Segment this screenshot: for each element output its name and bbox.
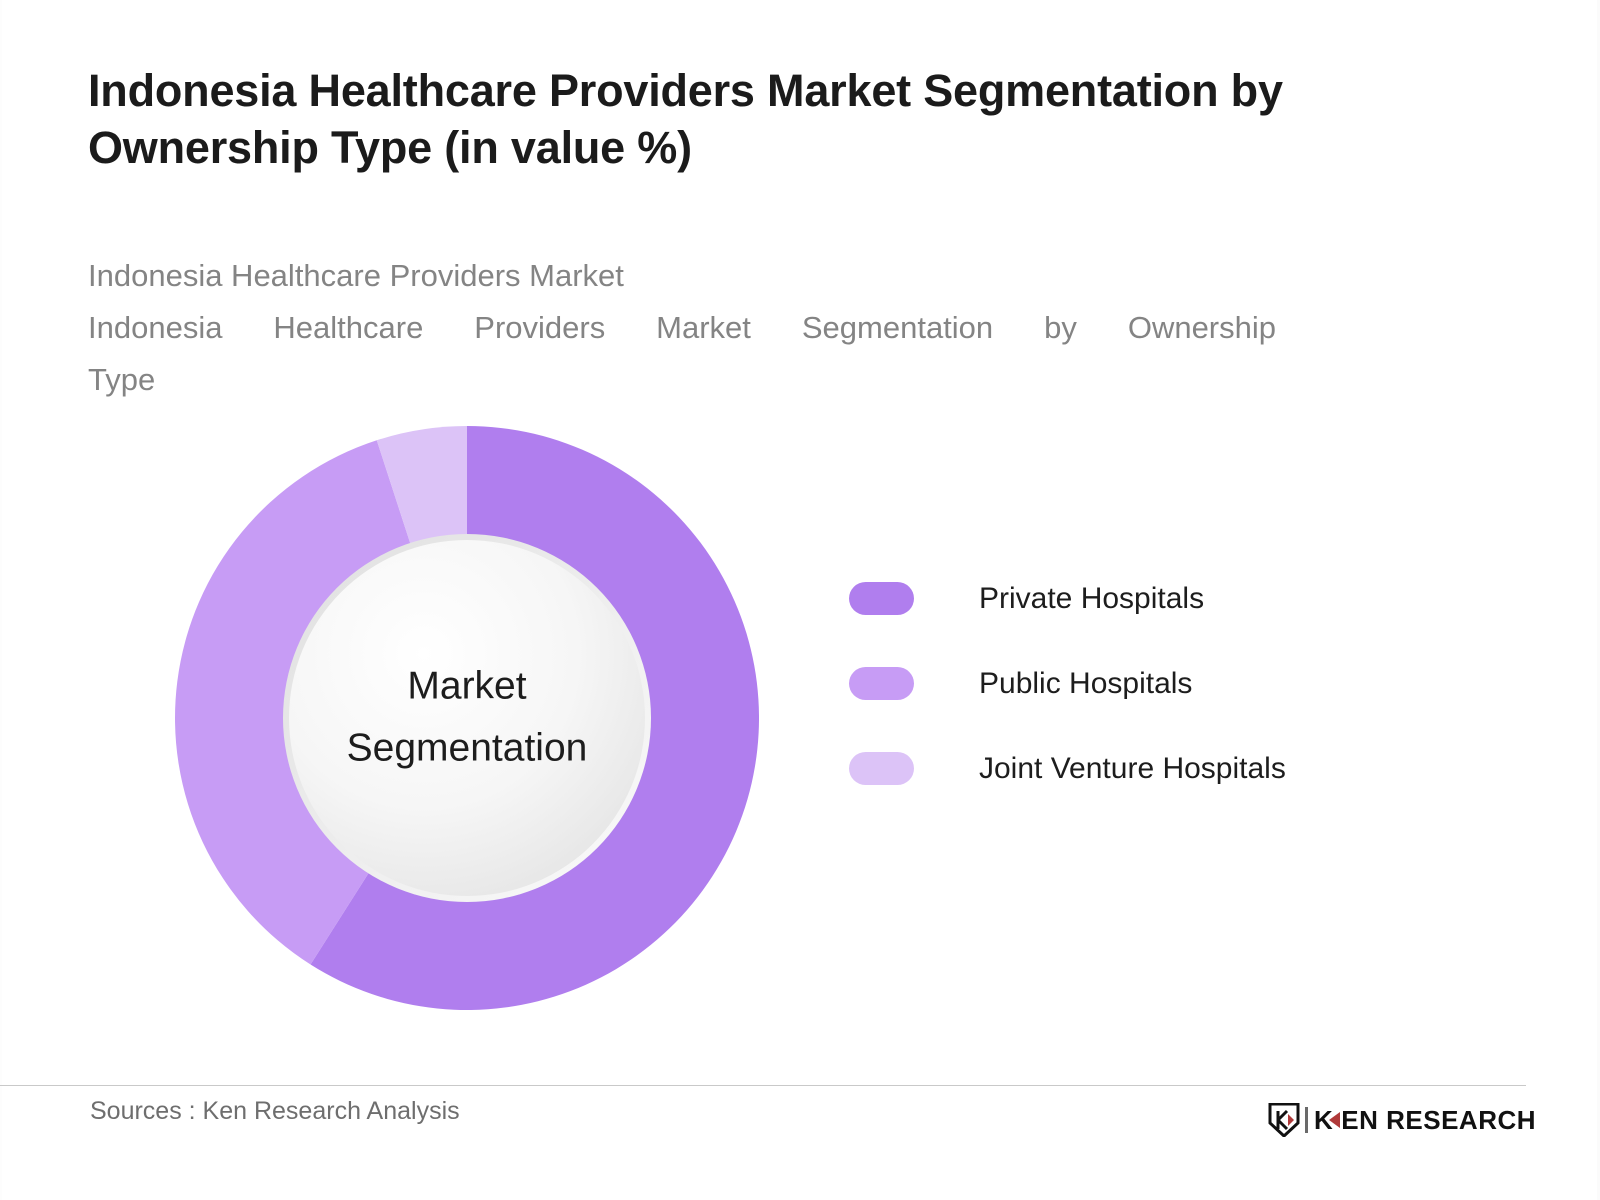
chart-area: Market Segmentation Private Hospitals Pu…	[0, 0, 1520, 1060]
logo-separator	[1305, 1107, 1308, 1133]
donut-chart: Market Segmentation	[175, 426, 759, 1010]
legend-label-public: Public Hospitals	[979, 667, 1192, 701]
ken-research-wordmark: KEN RESEARCH	[1314, 1107, 1536, 1133]
legend-label-joint-venture: Joint Venture Hospitals	[979, 752, 1286, 786]
ken-research-logo: KEN RESEARCH	[1268, 1100, 1536, 1140]
legend-swatch-icon-private	[849, 582, 914, 615]
chart-legend: Private Hospitals Public Hospitals Joint…	[849, 556, 1409, 811]
legend-swatch-icon-joint-venture	[849, 752, 914, 785]
logo-letter-k: K	[1314, 1107, 1333, 1133]
ken-research-shield-icon	[1268, 1103, 1300, 1137]
legend-item-private-hospitals[interactable]: Private Hospitals	[849, 556, 1409, 641]
donut-hole	[289, 540, 645, 896]
logo-wordmark-rest: EN RESEARCH	[1341, 1107, 1536, 1133]
legend-item-public-hospitals[interactable]: Public Hospitals	[849, 641, 1409, 726]
footer-divider	[0, 1085, 1526, 1086]
slide-canvas: Indonesia Healthcare Providers Market Se…	[0, 0, 1600, 1200]
donut-svg	[175, 426, 759, 1010]
legend-swatch-icon-public	[849, 667, 914, 700]
footer-source-text: Sources : Ken Research Analysis	[90, 1097, 460, 1126]
legend-item-joint-venture-hospitals[interactable]: Joint Venture Hospitals	[849, 726, 1409, 811]
legend-label-private: Private Hospitals	[979, 582, 1204, 616]
